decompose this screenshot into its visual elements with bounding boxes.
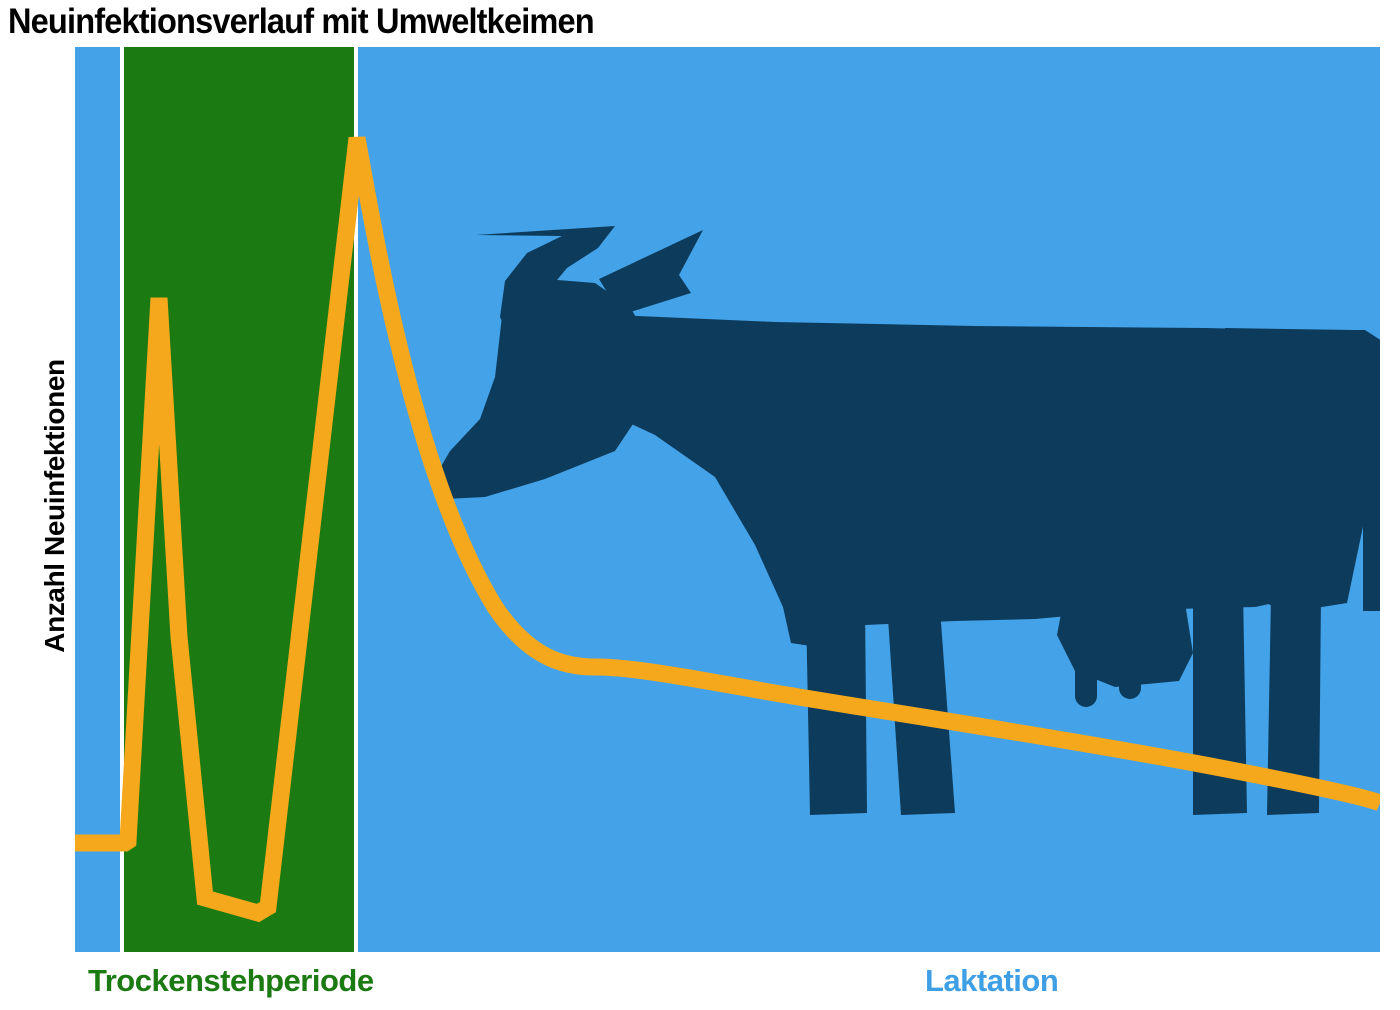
infographic-root: Neuinfektionsverlauf mit Umweltkeimen An…	[0, 0, 1400, 1010]
y-axis-label: Anzahl Neuinfektionen	[39, 246, 71, 766]
phase-label-dry-period: Trockenstehperiode	[88, 963, 374, 999]
infection-curve	[75, 47, 1380, 952]
phase-label-lactation: Laktation	[925, 963, 1058, 999]
infection-curve-path	[75, 138, 1380, 913]
page-title: Neuinfektionsverlauf mit Umweltkeimen	[8, 2, 938, 42]
plot-area	[75, 47, 1380, 952]
